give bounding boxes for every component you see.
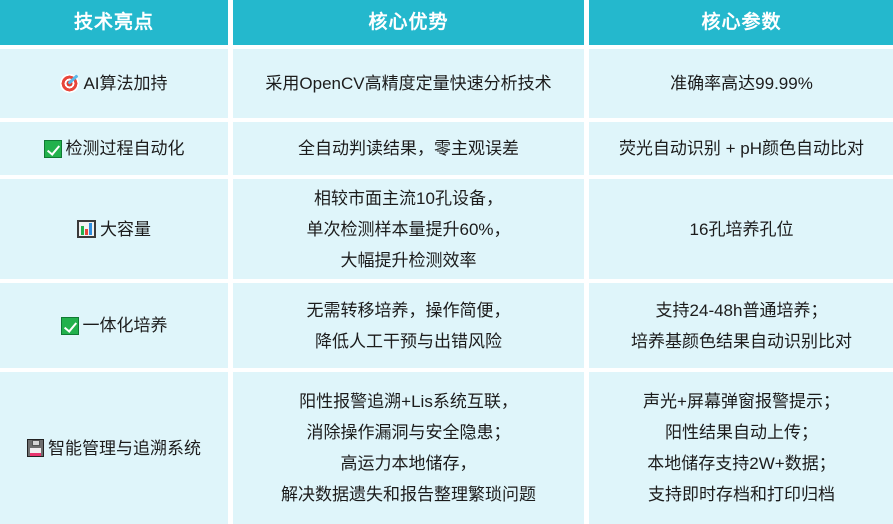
parameter-line: 16孔培养孔位 <box>690 214 794 245</box>
parameter-cell: 16孔培养孔位 <box>589 179 893 279</box>
feature-label-group: 检测过程自动化 <box>44 133 185 164</box>
advantage-cell: 全自动判读结果，零主观误差 <box>233 122 584 175</box>
column-header-feature: 技术亮点 <box>0 0 228 45</box>
feature-label-group: AI算法加持 <box>60 68 167 99</box>
table-row: 检测过程自动化 全自动判读结果，零主观误差 荧光自动识别 + pH颜色自动比对 <box>0 122 893 175</box>
feature-label-group: 大容量 <box>77 214 151 245</box>
column-header-label: 核心参数 <box>701 7 781 38</box>
parameter-text: 支持24-48h普通培养； 培养基颜色结果自动识别比对 <box>595 295 888 357</box>
parameter-line: 荧光自动识别 + pH颜色自动比对 <box>619 133 864 164</box>
advantage-line: 采用OpenCV高精度定量快速分析技术 <box>265 68 551 99</box>
advantage-text: 全自动判读结果，零主观误差 <box>239 133 578 164</box>
feature-cell: 检测过程自动化 <box>0 122 228 175</box>
feature-label: 智能管理与追溯系统 <box>48 433 201 464</box>
feature-cell: AI算法加持 <box>0 49 228 118</box>
feature-label: 检测过程自动化 <box>66 133 185 164</box>
feature-label-group: 一体化培养 <box>61 310 168 341</box>
parameter-line: 支持即时存档和打印归档 <box>648 479 835 510</box>
column-header-label: 核心优势 <box>368 7 448 38</box>
advantage-text: 阳性报警追溯+Lis系统互联， 消除操作漏洞与安全隐患； 高运力本地储存， 解决… <box>239 386 578 510</box>
parameter-line: 准确率高达99.99% <box>670 68 813 99</box>
table-header-row: 技术亮点 核心优势 核心参数 <box>0 0 893 45</box>
advantage-cell: 阳性报警追溯+Lis系统互联， 消除操作漏洞与安全隐患； 高运力本地储存， 解决… <box>233 372 584 524</box>
table-row: 一体化培养 无需转移培养，操作简便， 降低人工干预与出错风险 支持24-48h普… <box>0 283 893 368</box>
feature-label: 大容量 <box>100 214 151 245</box>
check-mark-icon <box>61 317 79 335</box>
advantage-line: 单次检测样本量提升60%， <box>306 214 510 245</box>
advantage-text: 无需转移培养，操作简便， 降低人工干预与出错风险 <box>239 295 578 357</box>
parameter-line: 阳性结果自动上传； <box>665 417 818 448</box>
column-header-label: 技术亮点 <box>74 7 154 38</box>
advantage-text: 采用OpenCV高精度定量快速分析技术 <box>239 68 578 99</box>
floppy-disk-icon <box>27 439 44 457</box>
parameter-text: 16孔培养孔位 <box>595 214 888 245</box>
advantage-line: 阳性报警追溯+Lis系统互联， <box>299 386 518 417</box>
parameter-line: 本地储存支持2W+数据； <box>647 448 835 479</box>
table-row: 智能管理与追溯系统 阳性报警追溯+Lis系统互联， 消除操作漏洞与安全隐患； 高… <box>0 372 893 524</box>
parameter-line: 声光+屏幕弹窗报警提示； <box>643 386 840 417</box>
feature-cell: 一体化培养 <box>0 283 228 368</box>
advantage-line: 相较市面主流10孔设备， <box>314 183 503 214</box>
check-mark-icon <box>44 140 62 158</box>
feature-label: 一体化培养 <box>83 310 168 341</box>
advantage-line: 无需转移培养，操作简便， <box>307 295 511 326</box>
parameter-text: 荧光自动识别 + pH颜色自动比对 <box>595 133 888 164</box>
advantage-line: 消除操作漏洞与安全隐患； <box>307 417 511 448</box>
feature-cell: 大容量 <box>0 179 228 279</box>
parameter-line: 支持24-48h普通培养； <box>656 295 828 326</box>
parameter-cell: 准确率高达99.99% <box>589 49 893 118</box>
advantage-cell: 相较市面主流10孔设备， 单次检测样本量提升60%， 大幅提升检测效率 <box>233 179 584 279</box>
column-header-parameter: 核心参数 <box>589 0 893 45</box>
parameter-cell: 声光+屏幕弹窗报警提示； 阳性结果自动上传； 本地储存支持2W+数据； 支持即时… <box>589 372 893 524</box>
parameter-text: 声光+屏幕弹窗报警提示； 阳性结果自动上传； 本地储存支持2W+数据； 支持即时… <box>595 386 888 510</box>
feature-label-group: 智能管理与追溯系统 <box>27 433 201 464</box>
parameter-line: 培养基颜色结果自动识别比对 <box>631 326 852 357</box>
table-row: AI算法加持 采用OpenCV高精度定量快速分析技术 准确率高达99.99% <box>0 49 893 118</box>
feature-comparison-table: 技术亮点 核心优势 核心参数 AI算法加持 采用OpenCV高精度定量快速分析技… <box>0 0 893 517</box>
advantage-line: 大幅提升检测效率 <box>341 245 477 276</box>
advantage-cell: 无需转移培养，操作简便， 降低人工干预与出错风险 <box>233 283 584 368</box>
parameter-cell: 支持24-48h普通培养； 培养基颜色结果自动识别比对 <box>589 283 893 368</box>
table-row: 大容量 相较市面主流10孔设备， 单次检测样本量提升60%， 大幅提升检测效率 … <box>0 179 893 279</box>
column-header-advantage: 核心优势 <box>233 0 584 45</box>
advantage-line: 高运力本地储存， <box>341 448 477 479</box>
advantage-line: 降低人工干预与出错风险 <box>315 326 502 357</box>
advantage-cell: 采用OpenCV高精度定量快速分析技术 <box>233 49 584 118</box>
bar-chart-icon <box>77 220 96 238</box>
target-icon <box>60 74 79 93</box>
advantage-line: 解决数据遗失和报告整理繁琐问题 <box>281 479 536 510</box>
parameter-text: 准确率高达99.99% <box>595 68 888 99</box>
advantage-text: 相较市面主流10孔设备， 单次检测样本量提升60%， 大幅提升检测效率 <box>239 183 578 276</box>
parameter-cell: 荧光自动识别 + pH颜色自动比对 <box>589 122 893 175</box>
feature-label: AI算法加持 <box>83 68 167 99</box>
feature-cell: 智能管理与追溯系统 <box>0 372 228 524</box>
advantage-line: 全自动判读结果，零主观误差 <box>298 133 519 164</box>
